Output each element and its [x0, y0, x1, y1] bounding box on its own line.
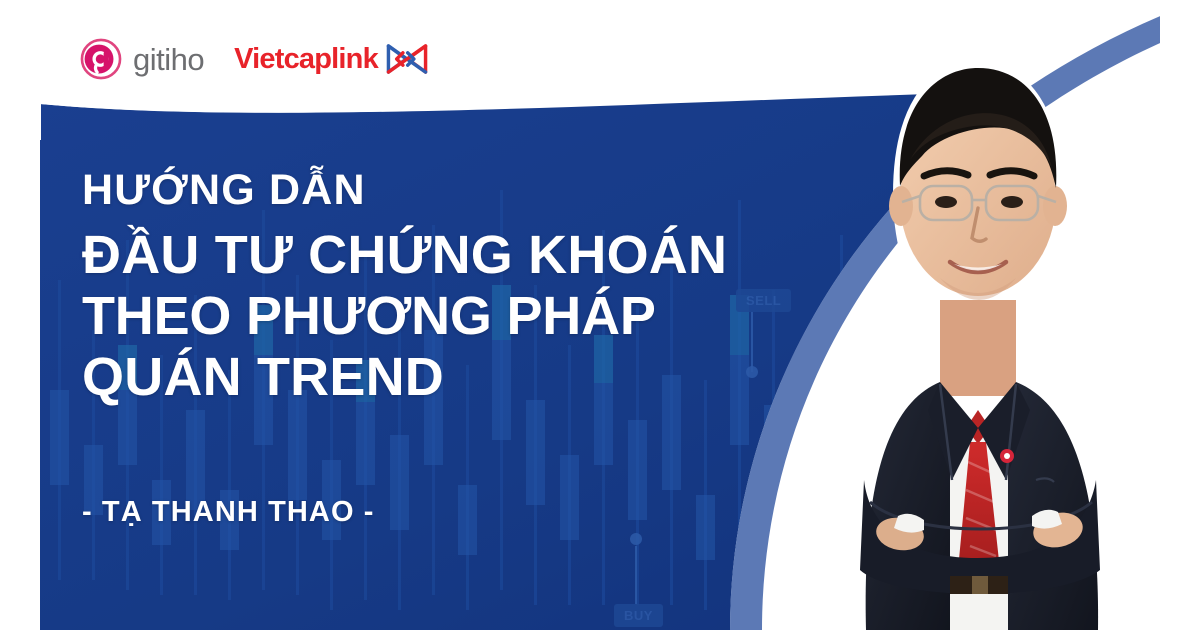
headline-line-3: QUÁN TREND: [82, 347, 727, 408]
gitiho-wordmark: gitiho: [133, 44, 204, 75]
headline-kicker: HƯỚNG DẪN: [82, 168, 727, 213]
headline-line-2: THEO PHƯƠNG PHÁP: [82, 286, 727, 347]
vietcaplink-wordmark: Vietcaplink: [234, 45, 378, 74]
vietcaplink-logo[interactable]: Vietcaplink: [234, 40, 429, 78]
headline-line-1: ĐẦU TƯ CHỨNG KHOÁN: [82, 225, 727, 286]
gitiho-logo[interactable]: gitiho: [80, 38, 204, 80]
gitiho-g-mark-icon: [80, 38, 122, 80]
promo-banner: SELL BUY gitiho Vietcaplink: [0, 0, 1200, 630]
headline-block: HƯỚNG DẪN ĐẦU TƯ CHỨNG KHOÁN THEO PHƯƠNG…: [82, 168, 727, 408]
speaker-byline: - TẠ THANH THAO -: [82, 496, 375, 529]
speaker-portrait: [800, 10, 1130, 630]
vietcaplink-bowtie-mark-icon: [385, 40, 429, 78]
logo-row: gitiho Vietcaplink: [80, 33, 429, 85]
